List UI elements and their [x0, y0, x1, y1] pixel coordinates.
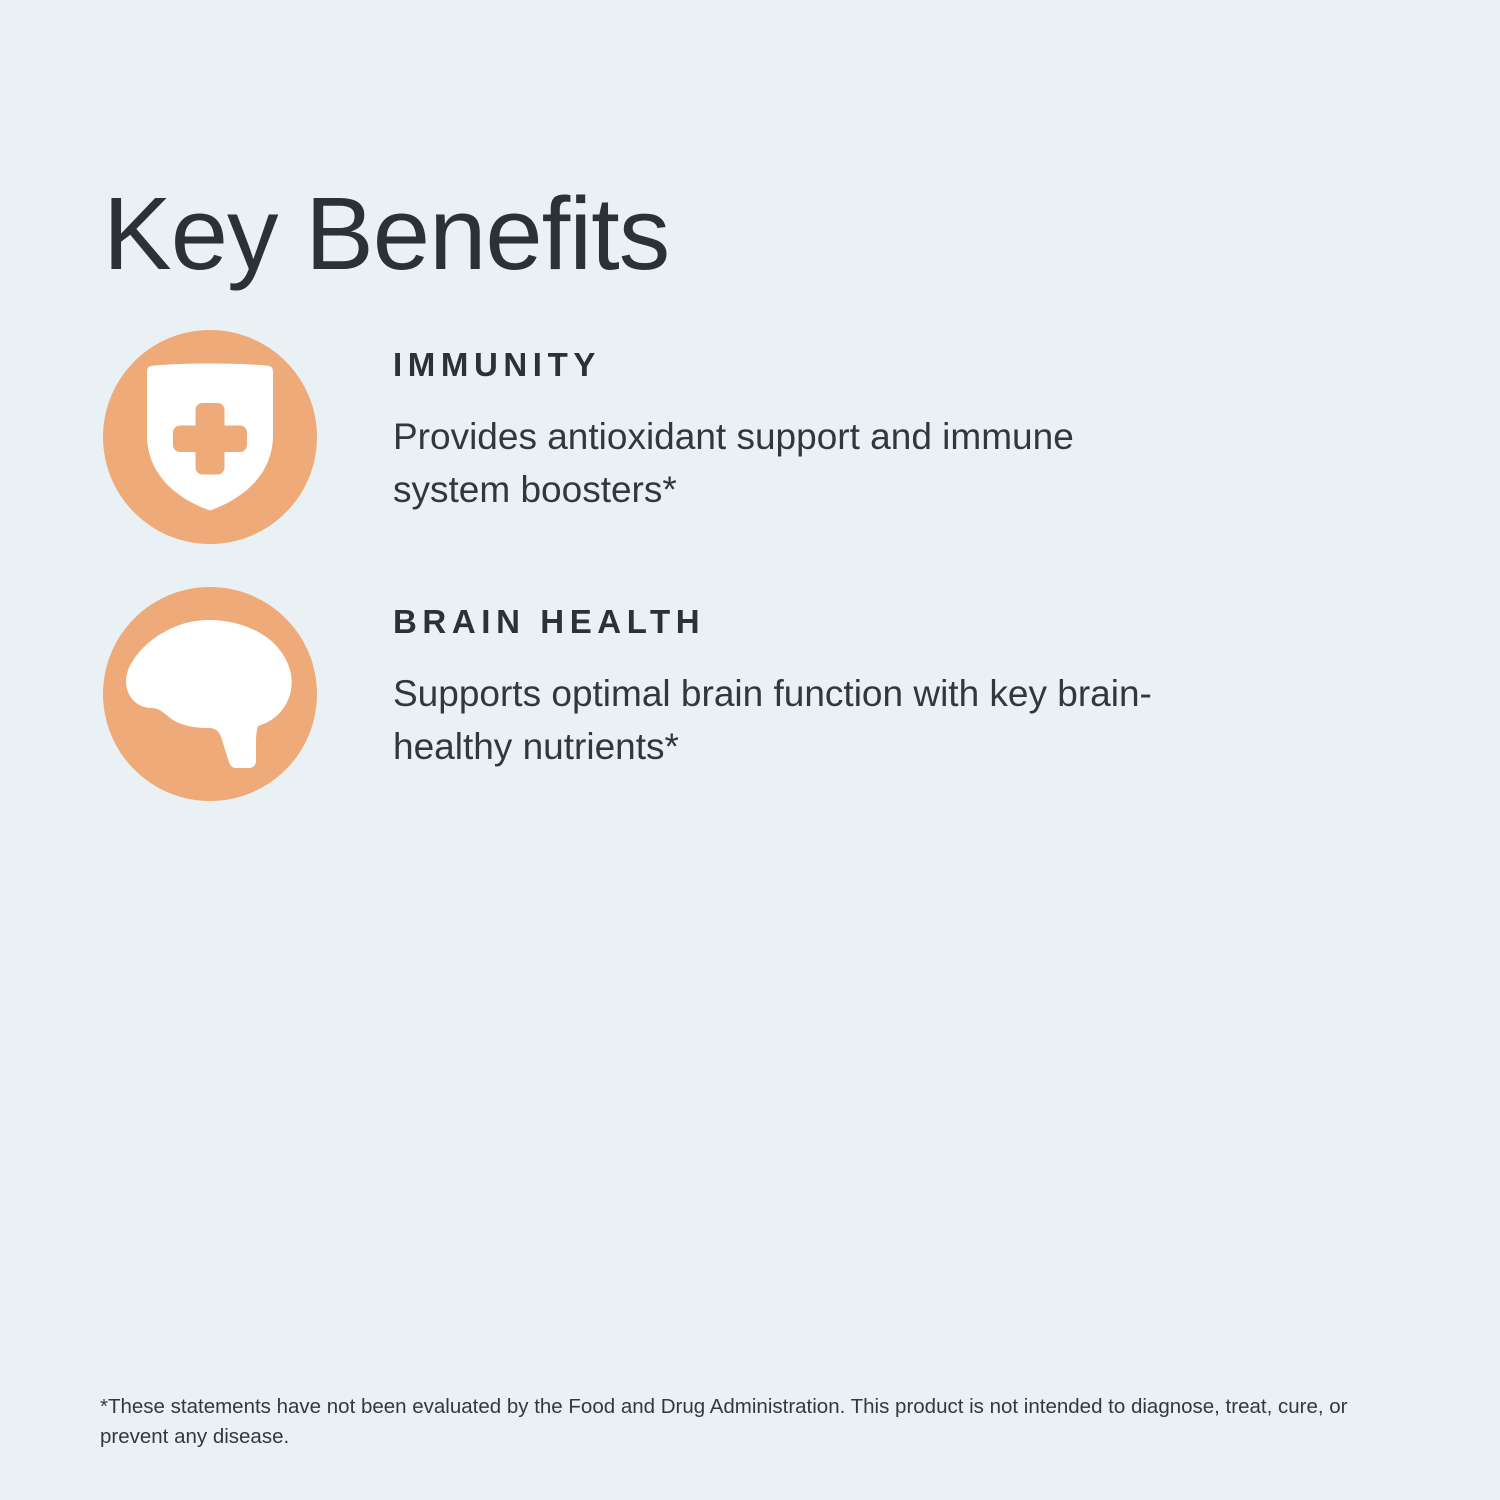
benefit-heading-brain-health: BRAIN HEALTH — [393, 605, 1183, 638]
fda-disclaimer-footnote: *These statements have not been evaluate… — [100, 1392, 1370, 1453]
benefit-item-immunity: IMMUNITY Provides antioxidant support an… — [0, 330, 1500, 544]
benefit-icon-badge-immunity — [103, 330, 317, 544]
key-benefits-panel: Key Benefits IMMUNITY Provides antioxida… — [0, 0, 1500, 1500]
benefit-description-immunity: Provides antioxidant support and immune … — [393, 411, 1153, 516]
benefit-text-brain-health: BRAIN HEALTH Supports optimal brain func… — [317, 587, 1183, 773]
shield-plus-icon — [144, 363, 276, 511]
benefit-item-brain-health: BRAIN HEALTH Supports optimal brain func… — [0, 587, 1500, 801]
benefit-heading-immunity: IMMUNITY — [393, 348, 1183, 381]
benefit-icon-badge-brain-health — [103, 587, 317, 801]
benefit-description-brain-health: Supports optimal brain function with key… — [393, 668, 1153, 773]
benefits-list: IMMUNITY Provides antioxidant support an… — [0, 330, 1500, 844]
benefit-text-immunity: IMMUNITY Provides antioxidant support an… — [317, 330, 1183, 516]
brain-icon — [125, 618, 295, 770]
page-title: Key Benefits — [103, 177, 669, 290]
